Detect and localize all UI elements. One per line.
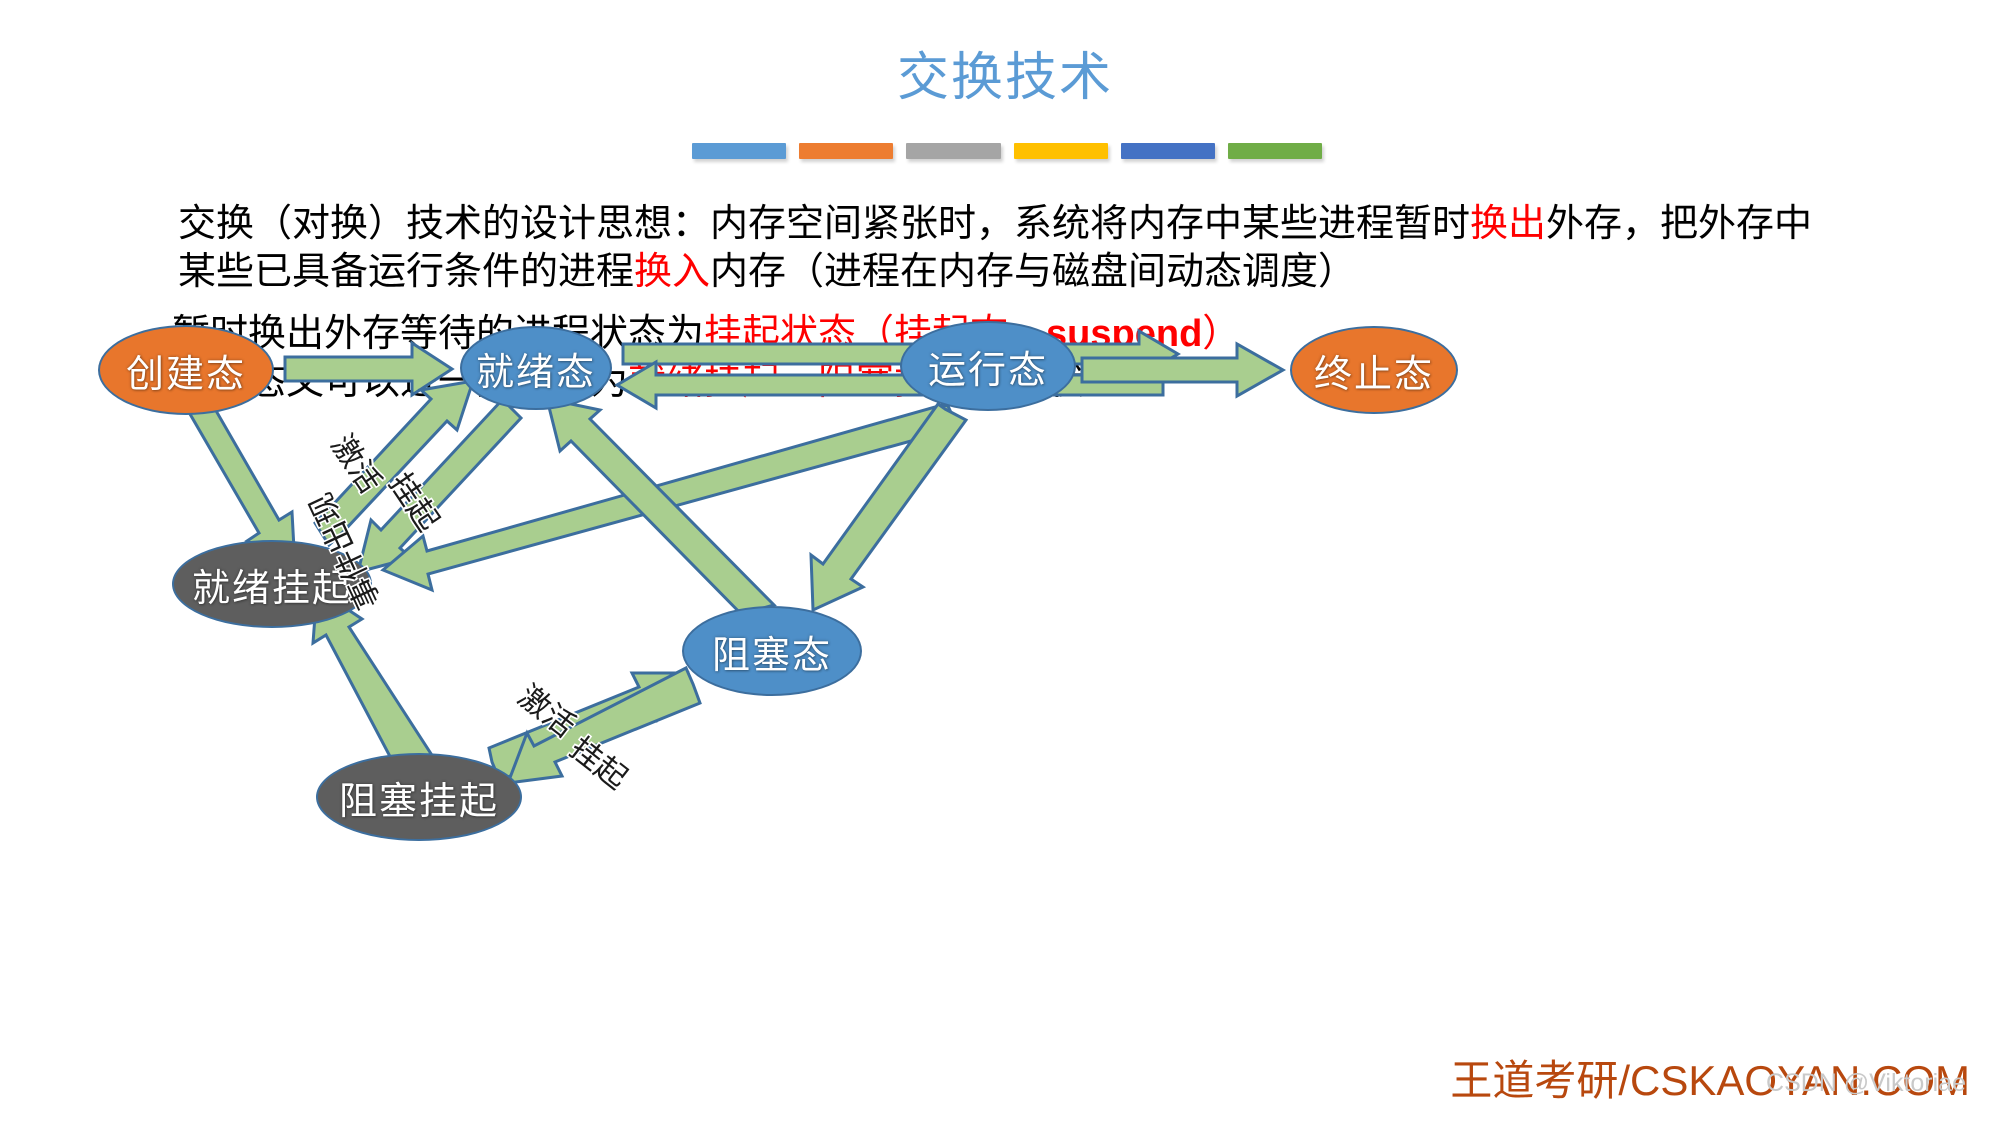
node-create-state[interactable]: 创建态 xyxy=(98,325,274,415)
node-running-state-label: 运行态 xyxy=(928,339,1048,394)
node-blocked-state[interactable]: 阻塞态 xyxy=(682,606,862,696)
node-ready-state-label: 就绪态 xyxy=(476,341,596,396)
node-blocked-suspend-state[interactable]: 阻塞挂起 xyxy=(316,753,522,841)
csdn-watermark: CSDN @Viktoriae xyxy=(1766,1069,1966,1098)
node-create-state-label: 创建态 xyxy=(126,343,246,398)
node-running-state[interactable]: 运行态 xyxy=(900,321,1076,411)
node-blocked-suspend-state-label: 阻塞挂起 xyxy=(339,770,499,825)
arrow-create-to-ready xyxy=(285,343,452,395)
node-terminated-state[interactable]: 终止态 xyxy=(1290,326,1458,414)
process-state-diagram: 创建态 就绪态 运行态 终止态 就绪挂起 阻塞态 阻塞挂起 激活 挂起 事件出现… xyxy=(0,0,2010,1122)
slide-canvas: 交换技术 交换（对换）技术的设计思想：内存空间紧张时，系统将内存中某些进程暂时换… xyxy=(0,0,2010,1122)
node-ready-state[interactable]: 就绪态 xyxy=(460,326,612,410)
node-blocked-state-label: 阻塞态 xyxy=(712,624,832,679)
node-terminated-state-label: 终止态 xyxy=(1314,343,1434,398)
